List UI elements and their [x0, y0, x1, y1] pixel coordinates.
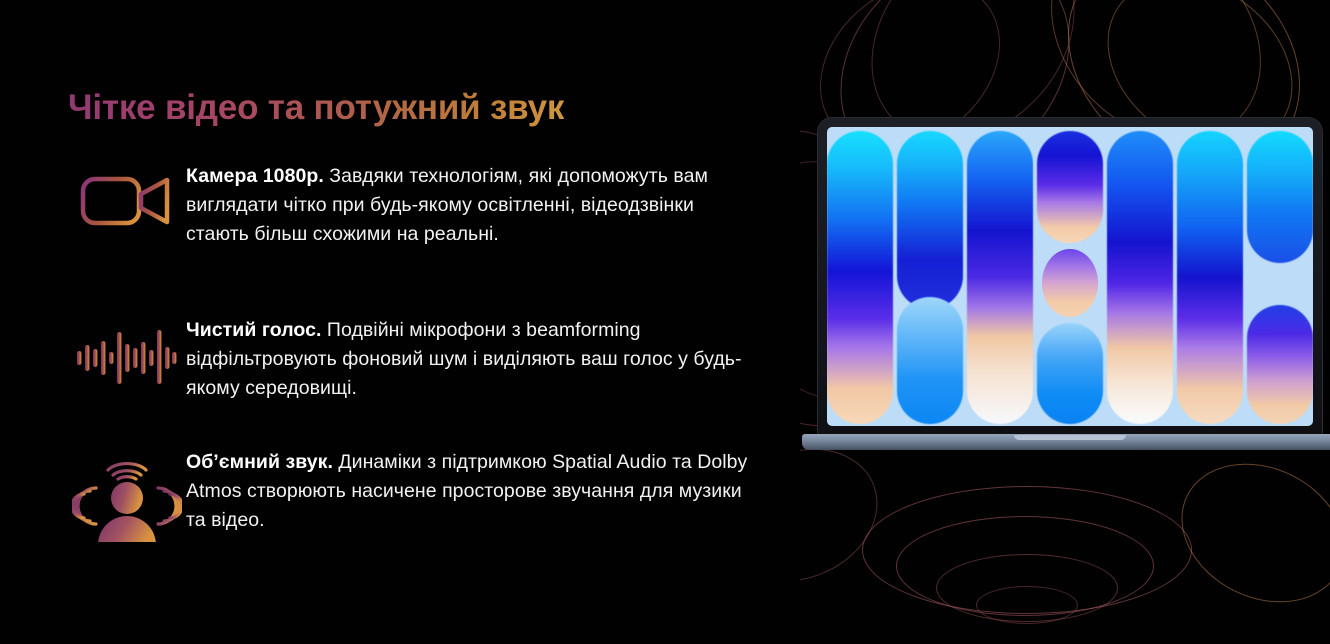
wallpaper-circle: [1042, 249, 1097, 317]
laptop-lid: [818, 118, 1322, 436]
wallpaper-column: [1177, 127, 1243, 426]
wallpaper-column: [1037, 127, 1103, 426]
wallpaper-column: [1247, 127, 1313, 426]
wallpaper-pill: [1037, 131, 1103, 243]
feature-item-spatial: Об’ємний звук. Динаміки з підтримкою Spa…: [68, 448, 756, 542]
feature-text-voice: Чистий голос. Подвійні мікрофони з beamf…: [186, 316, 756, 403]
spatial-audio-person-icon: [68, 448, 186, 542]
wallpaper-column: [967, 127, 1033, 426]
laptop-device: [818, 118, 1322, 458]
wallpaper-pill: [1247, 131, 1313, 263]
feature-item-voice: Чистий голос. Подвійні мікрофони з beamf…: [68, 316, 756, 403]
feature-item-camera: Камера 1080p. Завдяки технологіям, які д…: [68, 162, 756, 249]
wallpaper-pill: [1247, 305, 1313, 424]
feature-text-spatial: Об’ємний звук. Динаміки з підтримкою Spa…: [186, 448, 756, 535]
wallpaper-pill: [827, 131, 893, 424]
wallpaper-column: [827, 127, 893, 426]
feature-title-voice: Чистий голос.: [186, 319, 321, 341]
feature-title-camera: Камера 1080p.: [186, 165, 324, 187]
audio-waveform-icon: [68, 316, 186, 384]
video-camera-icon: [68, 162, 186, 232]
wallpaper-column: [1107, 127, 1173, 426]
feature-title-spatial: Об’ємний звук.: [186, 451, 333, 473]
wallpaper-column: [897, 127, 963, 426]
wallpaper-pill: [897, 131, 963, 309]
wallpaper-pill: [1177, 131, 1243, 424]
wallpaper-pill: [1037, 323, 1103, 424]
page-title: Чітке відео та потужний звук: [68, 88, 564, 128]
laptop-base: [802, 434, 1330, 450]
laptop-screen: [827, 127, 1313, 426]
feature-text-camera: Камера 1080p. Завдяки технологіям, які д…: [186, 162, 756, 249]
product-image-scene: [800, 0, 1330, 644]
decorative-ring: [1158, 437, 1330, 628]
wallpaper-pill: [897, 297, 963, 424]
content-column: Чітке відео та потужний звук Камера 1080…: [0, 0, 800, 644]
wallpaper-pill: [967, 131, 1033, 424]
decorative-ring: [976, 586, 1078, 624]
wallpaper-pill: [1107, 131, 1173, 424]
